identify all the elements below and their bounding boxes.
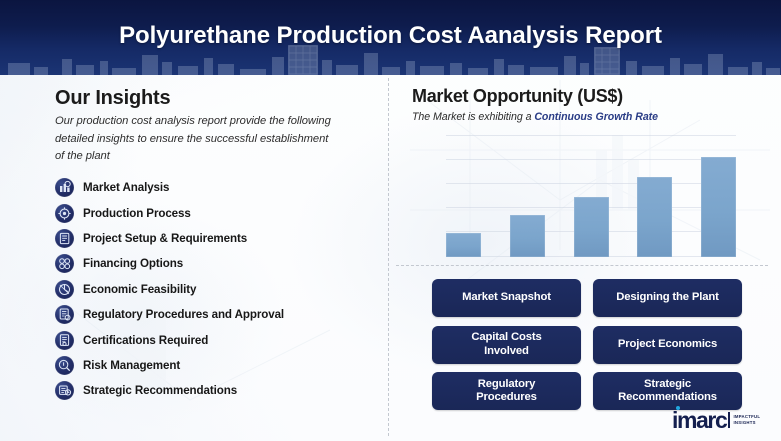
cta-button-grid: Market SnapshotDesigning the PlantCapita… <box>432 279 742 410</box>
project-setup-icon <box>55 229 74 248</box>
insight-item-label: Market Analysis <box>83 181 169 194</box>
insights-subtitle: Our production cost analysis report prov… <box>55 113 337 166</box>
page-header: Polyurethane Production Cost Aanalysis R… <box>0 0 781 75</box>
cta-button-4[interactable]: RegulatoryProcedures <box>432 372 581 410</box>
insights-list: Market AnalysisProduction ProcessProject… <box>55 175 385 404</box>
cta-button-label: Project Economics <box>618 338 717 352</box>
regulatory-procedures-icon <box>55 305 74 324</box>
bar-5 <box>701 157 736 257</box>
insight-item-8[interactable]: Strategic Recommendations <box>55 378 385 403</box>
cta-button-label: Capital CostsInvolved <box>471 331 541 358</box>
insight-item-6[interactable]: Certifications Required <box>55 327 385 352</box>
logo-dot-icon <box>676 406 680 410</box>
production-process-icon <box>55 204 74 223</box>
bar-3 <box>574 197 609 257</box>
cta-button-2[interactable]: Capital CostsInvolved <box>432 326 581 364</box>
cta-button-3[interactable]: Project Economics <box>593 326 742 364</box>
insight-item-7[interactable]: Risk Management <box>55 353 385 378</box>
logo-tagline: IMPACTFUL INSIGHTS <box>733 414 760 426</box>
risk-management-icon <box>55 356 74 375</box>
economic-feasibility-icon <box>55 280 74 299</box>
insight-item-3[interactable]: Financing Options <box>55 251 385 276</box>
insight-item-label: Certifications Required <box>83 334 208 347</box>
market-opportunity-panel: Market Opportunity (US$) The Market is e… <box>388 75 781 441</box>
logo-word-text: imarc <box>672 407 726 433</box>
financing-options-icon <box>55 254 74 273</box>
logo-separator-bar <box>728 412 730 428</box>
cta-button-label: Designing the Plant <box>616 291 719 305</box>
cta-button-label: RegulatoryProcedures <box>476 378 537 405</box>
gridline-0 <box>446 135 736 136</box>
insight-item-label: Project Setup & Requirements <box>83 232 247 245</box>
page-title: Polyurethane Production Cost Aanalysis R… <box>0 22 781 50</box>
insights-panel: Our Insights Our production cost analysi… <box>0 75 388 441</box>
cta-button-label: Market Snapshot <box>462 291 551 305</box>
insight-item-label: Regulatory Procedures and Approval <box>83 308 284 321</box>
insights-heading: Our Insights <box>55 87 170 110</box>
bar-1 <box>446 233 481 258</box>
insight-item-4[interactable]: Economic Feasibility <box>55 277 385 302</box>
insight-item-label: Economic Feasibility <box>83 283 196 296</box>
insight-item-5[interactable]: Regulatory Procedures and Approval <box>55 302 385 327</box>
insight-item-label: Financing Options <box>83 257 183 270</box>
bar-2 <box>510 215 545 257</box>
cta-button-label: StrategicRecommendations <box>618 378 717 405</box>
logo-tagline-line2: INSIGHTS <box>733 420 760 426</box>
chart-bars <box>446 142 736 257</box>
subtitle-accent-text: Continuous Growth Rate <box>534 111 658 123</box>
certifications-icon <box>55 331 74 350</box>
insight-item-0[interactable]: Market Analysis <box>55 175 385 200</box>
insight-item-1[interactable]: Production Process <box>55 200 385 225</box>
market-opportunity-bar-chart <box>446 135 736 257</box>
insight-item-label: Strategic Recommendations <box>83 384 237 397</box>
market-opportunity-heading: Market Opportunity (US$) <box>412 86 623 107</box>
strategic-recommendations-icon <box>55 381 74 400</box>
insight-item-2[interactable]: Project Setup & Requirements <box>55 226 385 251</box>
bar-4 <box>637 177 672 257</box>
imarc-logo: imarc IMPACTFUL INSIGHTS <box>672 408 760 432</box>
market-opportunity-subtitle: The Market is exhibiting a Continuous Gr… <box>412 111 658 123</box>
cta-button-5[interactable]: StrategicRecommendations <box>593 372 742 410</box>
logo-wordmark: imarc <box>672 409 726 432</box>
market-analysis-icon <box>55 178 74 197</box>
insight-item-label: Production Process <box>83 207 191 220</box>
cta-button-1[interactable]: Designing the Plant <box>593 279 742 317</box>
cta-button-0[interactable]: Market Snapshot <box>432 279 581 317</box>
subtitle-lead-text: The Market is exhibiting a <box>412 111 534 123</box>
insight-item-label: Risk Management <box>83 359 180 372</box>
